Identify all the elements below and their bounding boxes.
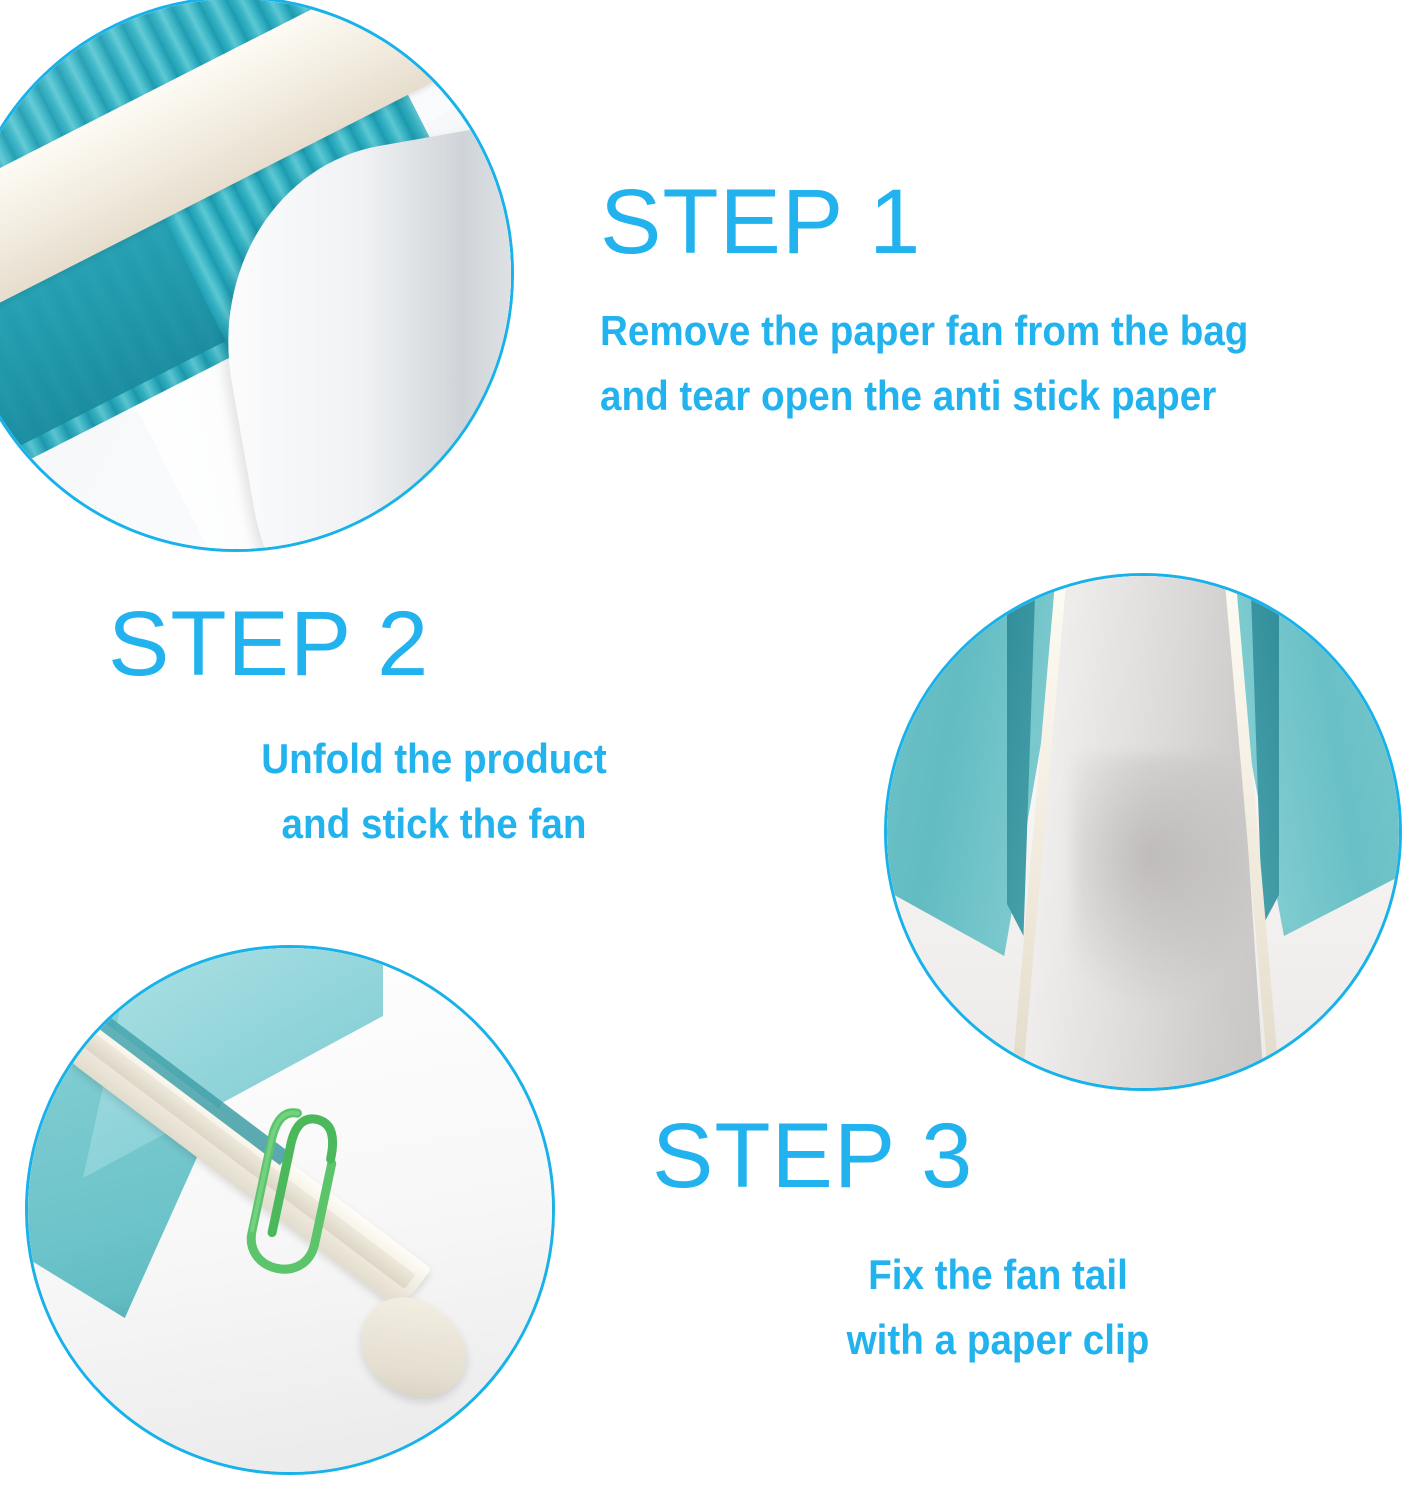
step3-description: Fix the fan tail with a paper clip	[648, 1242, 1348, 1372]
step2-text-block: STEP 2 Unfold the product and stick the …	[104, 598, 764, 856]
step2-heading: STEP 2	[104, 598, 764, 690]
step1-description: Remove the paper fan from the bag and te…	[600, 298, 1305, 428]
step3-text-block: STEP 3 Fix the fan tail with a paper cli…	[648, 1110, 1348, 1372]
step2-photo-inner	[887, 576, 1399, 1088]
step3-line-2: with a paper clip	[676, 1307, 1320, 1372]
step1-photo-circle	[0, 0, 514, 552]
step1-line-2: and tear open the anti stick paper	[600, 363, 1248, 428]
step2-line-1: Unfold the product	[130, 726, 737, 791]
step1-heading: STEP 1	[600, 176, 1305, 268]
instruction-steps-page: STEP 1 Remove the paper fan from the bag…	[0, 0, 1418, 1500]
step3-photo-circle	[25, 945, 555, 1475]
step2-line-2: and stick the fan	[130, 791, 737, 856]
step2-photo-circle	[884, 573, 1402, 1091]
step3-photo-inner	[28, 948, 552, 1472]
step3-heading: STEP 3	[648, 1110, 1348, 1202]
center-panel-shading	[1073, 756, 1263, 1006]
step2-description: Unfold the product and stick the fan	[104, 726, 764, 856]
step1-line-1: Remove the paper fan from the bag	[600, 298, 1248, 363]
step1-text-block: STEP 1 Remove the paper fan from the bag…	[600, 176, 1305, 428]
step3-line-1: Fix the fan tail	[676, 1242, 1320, 1307]
step1-photo-inner	[0, 0, 511, 549]
